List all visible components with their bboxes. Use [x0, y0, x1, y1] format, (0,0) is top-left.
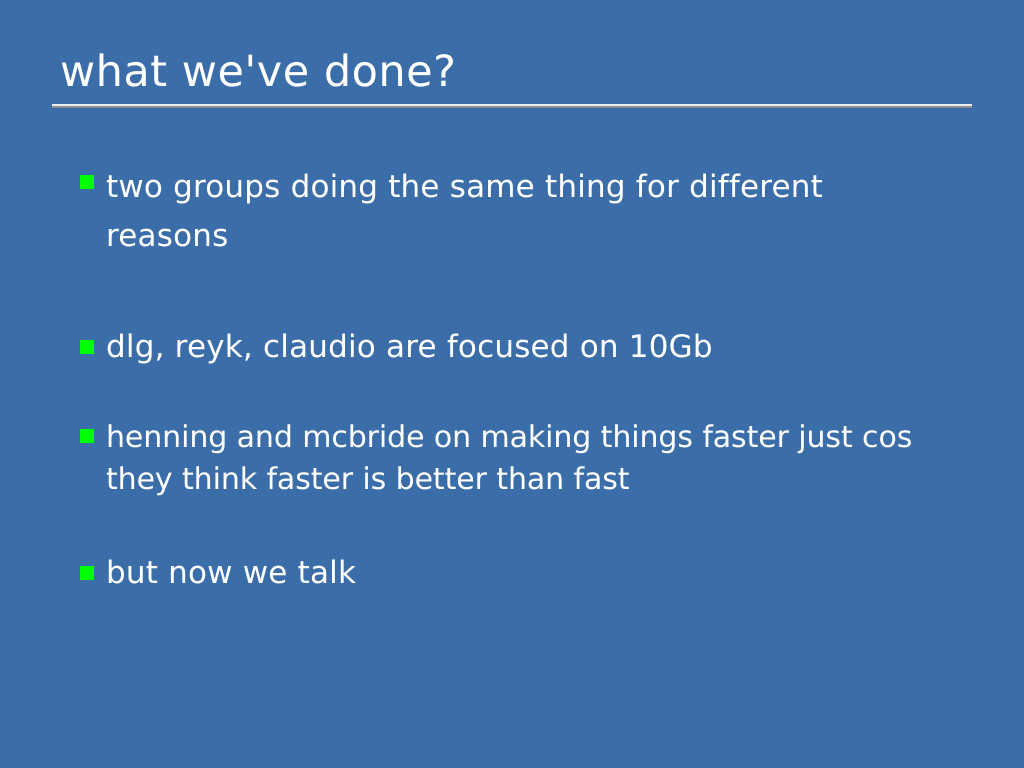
bullet-spacer [80, 367, 980, 417]
bullet-spacer [80, 261, 980, 327]
list-item: but now we talk [80, 553, 980, 593]
list-item: two groups doing the same thing for diff… [80, 163, 980, 261]
bullet-spacer [80, 501, 980, 553]
list-item: henning and mcbride on making things fas… [80, 417, 980, 501]
list-item-label: but now we talk [106, 553, 980, 593]
green-square-bullet-icon [80, 566, 94, 580]
presentation-slide: what we've done? two groups doing the sa… [0, 0, 1024, 768]
title-block: what we've done? [52, 46, 972, 98]
list-item: dlg, reyk, claudio are focused on 10Gb [80, 327, 980, 367]
rule-shadow [52, 106, 972, 108]
green-square-bullet-icon [80, 429, 94, 443]
page-title: what we've done? [52, 46, 972, 98]
green-square-bullet-icon [80, 340, 94, 354]
list-item-label: dlg, reyk, claudio are focused on 10Gb [106, 327, 980, 367]
green-square-bullet-icon [80, 175, 94, 189]
bullet-list: two groups doing the same thing for diff… [80, 163, 980, 593]
list-item-label: two groups doing the same thing for diff… [106, 163, 846, 261]
title-underline-rule [52, 104, 972, 108]
list-item-label: henning and mcbride on making things fas… [106, 417, 954, 501]
